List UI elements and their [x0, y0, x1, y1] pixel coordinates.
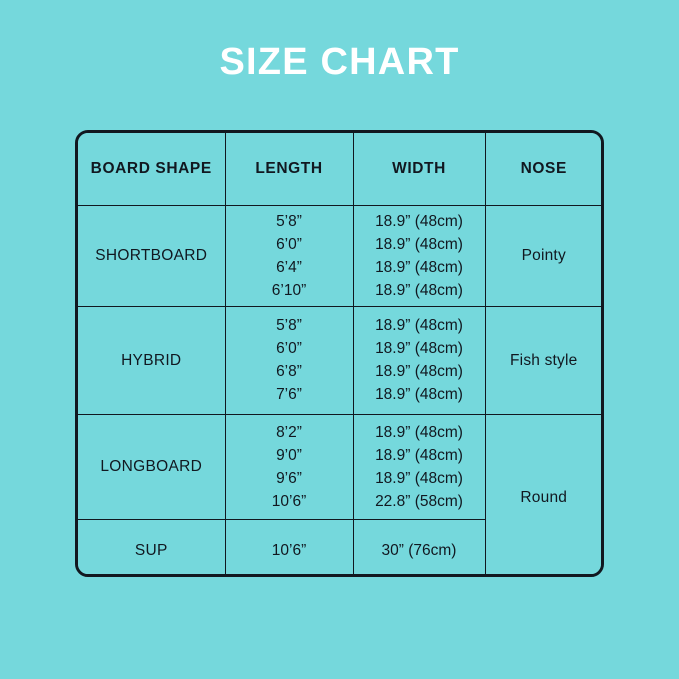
column-header-width: WIDTH — [353, 133, 485, 206]
width-value: 18.9” (48cm) — [354, 446, 485, 466]
length-value: 6’0” — [226, 235, 353, 255]
width-list-hybrid: 18.9” (48cm) 18.9” (48cm) 18.9” (48cm) 1… — [354, 316, 485, 405]
length-list-hybrid: 5’8” 6’0” 6’8” 7’6” — [226, 316, 353, 405]
table-row: LONGBOARD 8’2” 9’0” 9’6” 10’6” 18.9” (48… — [78, 415, 602, 520]
length-value: 6’0” — [226, 339, 353, 359]
cell-length-shortboard: 5’8” 6’0” 6’4” 6’10” — [225, 206, 353, 307]
cell-board-shape-sup: SUP — [78, 520, 225, 578]
length-value: 8’2” — [226, 423, 353, 443]
length-list-sup: 10’6” — [226, 541, 353, 561]
page-title: SIZE CHART — [0, 36, 679, 88]
width-value: 22.8” (58cm) — [354, 492, 485, 512]
cell-board-shape-shortboard: SHORTBOARD — [78, 206, 225, 307]
length-value: 6’10” — [226, 281, 353, 301]
length-list-longboard: 8’2” 9’0” 9’6” 10’6” — [226, 423, 353, 512]
cell-length-hybrid: 5’8” 6’0” 6’8” 7’6” — [225, 307, 353, 415]
cell-nose-hybrid: Fish style — [485, 307, 602, 415]
table-header-row: BOARD SHAPE LENGTH WIDTH NOSE — [78, 133, 602, 206]
size-chart-page: SIZE CHART BOARD SHAPE LENGTH WIDTH NOSE — [0, 0, 679, 679]
cell-board-shape-hybrid: HYBRID — [78, 307, 225, 415]
cell-width-shortboard: 18.9” (48cm) 18.9” (48cm) 18.9” (48cm) 1… — [353, 206, 485, 307]
cell-width-longboard: 18.9” (48cm) 18.9” (48cm) 18.9” (48cm) 2… — [353, 415, 485, 520]
length-value: 6’8” — [226, 362, 353, 382]
width-value: 18.9” (48cm) — [354, 258, 485, 278]
length-value: 9’0” — [226, 446, 353, 466]
width-list-sup: 30” (76cm) — [354, 541, 485, 561]
length-value: 6’4” — [226, 258, 353, 278]
width-value: 18.9” (48cm) — [354, 281, 485, 301]
width-value: 18.9” (48cm) — [354, 469, 485, 489]
table-body: SHORTBOARD 5’8” 6’0” 6’4” 6’10” 18.9” (4… — [78, 206, 602, 578]
width-value: 18.9” (48cm) — [354, 316, 485, 336]
cell-width-hybrid: 18.9” (48cm) 18.9” (48cm) 18.9” (48cm) 1… — [353, 307, 485, 415]
length-value: 7’6” — [226, 385, 353, 405]
width-value: 18.9” (48cm) — [354, 235, 485, 255]
length-list-shortboard: 5’8” 6’0” 6’4” 6’10” — [226, 212, 353, 301]
width-list-longboard: 18.9” (48cm) 18.9” (48cm) 18.9” (48cm) 2… — [354, 423, 485, 512]
size-chart-table-container: BOARD SHAPE LENGTH WIDTH NOSE SHORTBOARD… — [75, 130, 604, 577]
cell-length-longboard: 8’2” 9’0” 9’6” 10’6” — [225, 415, 353, 520]
table-header: BOARD SHAPE LENGTH WIDTH NOSE — [78, 133, 602, 206]
size-chart-table: BOARD SHAPE LENGTH WIDTH NOSE SHORTBOARD… — [78, 133, 602, 577]
width-value: 18.9” (48cm) — [354, 423, 485, 443]
cell-width-sup: 30” (76cm) — [353, 520, 485, 578]
column-header-nose: NOSE — [485, 133, 602, 206]
length-value: 5’8” — [226, 316, 353, 336]
length-value: 10’6” — [226, 492, 353, 512]
width-value: 18.9” (48cm) — [354, 385, 485, 405]
width-list-shortboard: 18.9” (48cm) 18.9” (48cm) 18.9” (48cm) 1… — [354, 212, 485, 301]
cell-board-shape-longboard: LONGBOARD — [78, 415, 225, 520]
width-value: 18.9” (48cm) — [354, 339, 485, 359]
cell-nose-shortboard: Pointy — [485, 206, 602, 307]
length-value: 5’8” — [226, 212, 353, 232]
length-value: 9’6” — [226, 469, 353, 489]
table-row: SHORTBOARD 5’8” 6’0” 6’4” 6’10” 18.9” (4… — [78, 206, 602, 307]
width-value: 18.9” (48cm) — [354, 362, 485, 382]
table-row: HYBRID 5’8” 6’0” 6’8” 7’6” 18.9” (48cm) … — [78, 307, 602, 415]
width-value: 30” (76cm) — [354, 541, 485, 561]
width-value: 18.9” (48cm) — [354, 212, 485, 232]
cell-nose-longboard-sup: Round — [485, 415, 602, 578]
length-value: 10’6” — [226, 541, 353, 561]
cell-length-sup: 10’6” — [225, 520, 353, 578]
column-header-length: LENGTH — [225, 133, 353, 206]
column-header-board-shape: BOARD SHAPE — [78, 133, 225, 206]
